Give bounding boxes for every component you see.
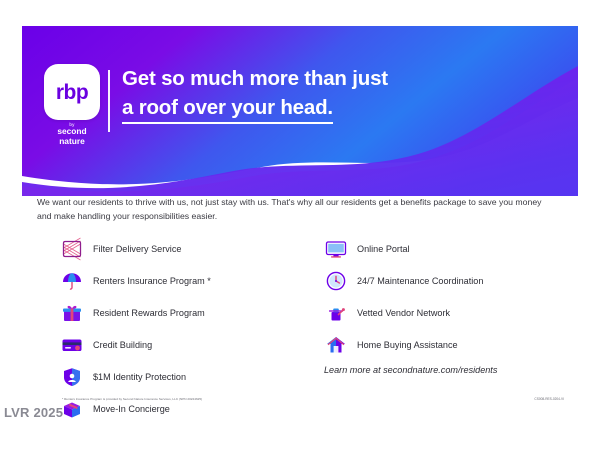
benefits-card: rbp by second nature Get so much more th… [22, 26, 578, 424]
benefit-label: Home Buying Assistance [357, 340, 458, 350]
benefit-item: $1M Identity Protection [60, 361, 310, 393]
headline-line-1: Get so much more than just [122, 66, 388, 92]
fineprint-disclaimer: * Renters Insurance Program is provided … [62, 397, 392, 401]
benefit-label: 24/7 Maintenance Coordination [357, 276, 483, 286]
benefit-label: Renters Insurance Program * [93, 276, 211, 286]
brand-name-text: second nature [44, 127, 100, 146]
rbp-logo-badge: rbp [44, 64, 100, 120]
benefit-label: Online Portal [357, 244, 410, 254]
benefit-label: Credit Building [93, 340, 152, 350]
umbrella-icon [60, 269, 84, 293]
headline-line-2: a roof over your head. [122, 95, 333, 121]
benefit-label: Filter Delivery Service [93, 244, 181, 254]
brand-lockup: by second nature [44, 122, 100, 146]
clock-icon [324, 269, 348, 293]
learn-more-text: Learn more at secondnature.com/residents [324, 365, 497, 375]
benefit-item: Credit Building [60, 329, 310, 361]
monitor-icon [324, 237, 348, 261]
filter-icon [60, 237, 84, 261]
benefit-label: $1M Identity Protection [93, 372, 186, 382]
benefit-item: Vetted Vendor Network [324, 297, 574, 329]
gift-icon [60, 301, 84, 325]
benefits-column-left: Filter Delivery Service Renters Insuranc… [60, 233, 310, 424]
benefit-label: Move-In Concierge [93, 404, 170, 414]
watermark: LVR 2025 [4, 405, 63, 420]
headline-line-2-text: a roof over your head. [122, 96, 333, 119]
benefit-item: Online Portal [324, 233, 574, 265]
headline: Get so much more than just a roof over y… [122, 66, 388, 120]
benefits-column-right: Online Portal 24/7 Maintenance Coordinat… [324, 233, 574, 361]
benefit-item: Renters Insurance Program * [60, 265, 310, 297]
house-icon [324, 333, 348, 357]
benefit-label: Resident Rewards Program [93, 308, 205, 318]
benefit-item: Home Buying Assistance [324, 329, 574, 361]
rbp-logo-text: rbp [56, 82, 88, 103]
shield-id-icon [60, 365, 84, 389]
document-code: CS008-RES-0204-VI [534, 397, 564, 401]
headline-divider [108, 70, 110, 132]
headline-underline [122, 122, 333, 124]
benefit-item: Filter Delivery Service [60, 233, 310, 265]
credit-card-icon [60, 333, 84, 357]
benefit-item: Resident Rewards Program [60, 297, 310, 329]
benefit-label: Vetted Vendor Network [357, 308, 450, 318]
intro-paragraph: We want our residents to thrive with us,… [37, 196, 553, 224]
flyer-page: rbp by second nature Get so much more th… [0, 0, 600, 450]
benefit-item: 24/7 Maintenance Coordination [324, 265, 574, 297]
wrench-icon [324, 301, 348, 325]
